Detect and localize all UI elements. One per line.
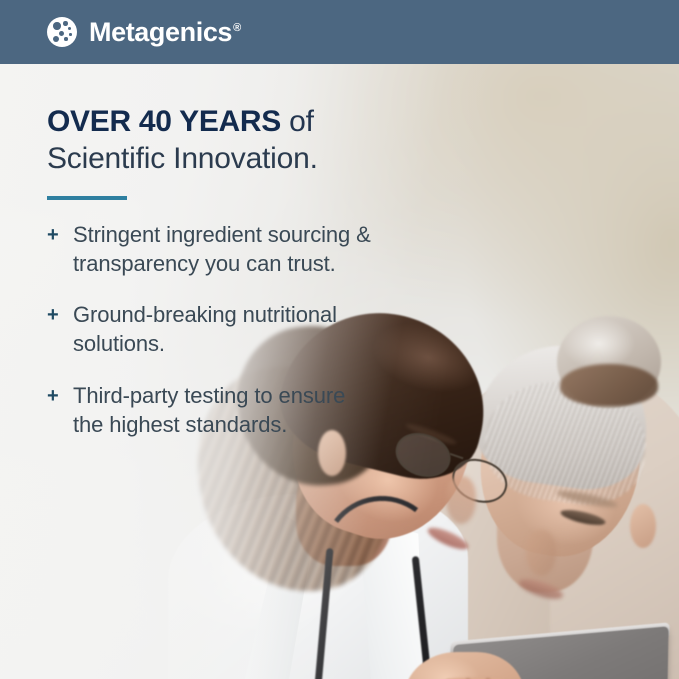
list-item: + Ground-breaking nutritional solutions. <box>47 300 377 358</box>
list-item-label: Third-party testing to ensure the highes… <box>73 381 377 439</box>
copy-block: OVER 40 YEARS of Scientific Innovation. … <box>47 103 377 439</box>
list-item: + Stringent ingredient sourcing & transp… <box>47 220 377 278</box>
brand-wordmark: Metagenics® <box>89 17 241 48</box>
list-item: + Third-party testing to ensure the high… <box>47 381 377 439</box>
list-item-label: Stringent ingredient sourcing & transpar… <box>73 220 377 278</box>
plus-icon: + <box>47 220 73 249</box>
page-title: OVER 40 YEARS of <box>47 103 377 140</box>
accent-divider <box>47 196 127 200</box>
benefits-list: + Stringent ingredient sourcing & transp… <box>47 220 377 438</box>
brand-header-bar: Metagenics® <box>0 0 679 64</box>
plus-icon: + <box>47 381 73 410</box>
brand-name: Metagenics <box>89 17 232 47</box>
metagenics-cell-dots-icon <box>47 17 77 47</box>
list-item-label: Ground-breaking nutritional solutions. <box>73 300 377 358</box>
plus-icon: + <box>47 300 73 329</box>
metagenics-brand-ad: Metagenics® OVER 40 YEARS of Scientific … <box>0 0 679 679</box>
headline-strong: OVER 40 YEARS <box>47 105 281 138</box>
headline-rest: of <box>281 105 314 138</box>
registered-trademark-icon: ® <box>233 22 241 34</box>
headline-subline: Scientific Innovation. <box>47 140 377 177</box>
